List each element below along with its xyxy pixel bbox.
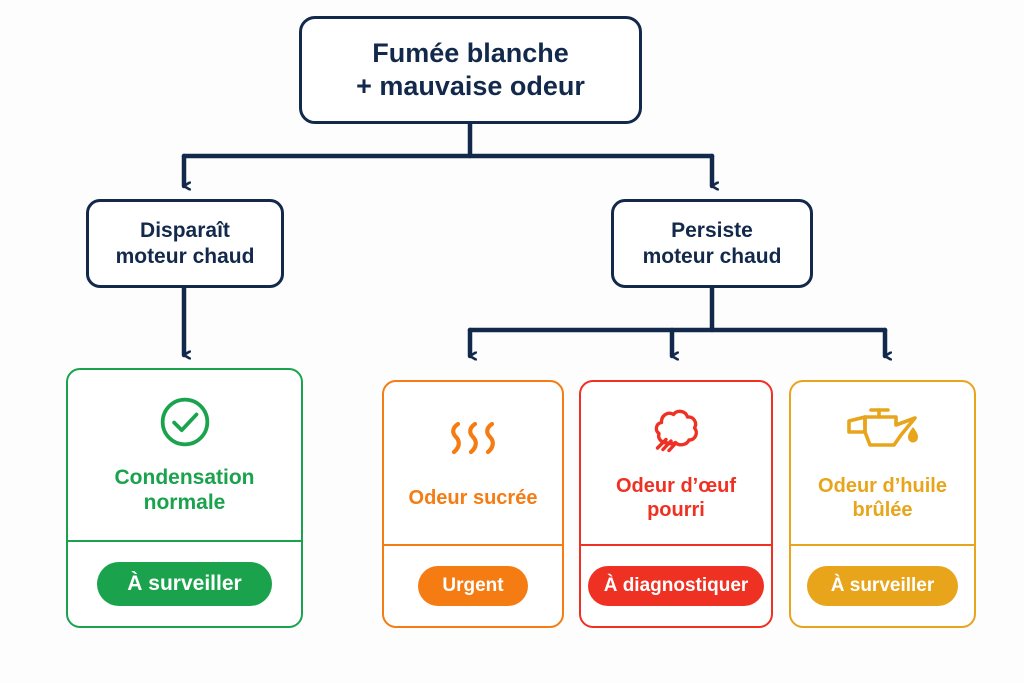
card-body: Odeur sucrée bbox=[384, 382, 562, 544]
card-label: Odeur d’œuf pourri bbox=[616, 474, 736, 522]
card-odeur-sucree[interactable]: Odeur sucrée Urgent bbox=[382, 380, 564, 628]
card-body: Odeur d’huile brûlée bbox=[791, 382, 974, 544]
card-footer: À surveiller bbox=[791, 544, 974, 626]
status-badge[interactable]: À surveiller bbox=[97, 562, 271, 606]
node-branch-persiste[interactable]: Persiste moteur chaud bbox=[611, 199, 813, 288]
node-root-symptom[interactable]: Fumée blanche + mauvaise odeur bbox=[299, 16, 642, 124]
node-root-label: Fumée blanche + mauvaise odeur bbox=[346, 37, 595, 103]
card-footer: À diagnostiquer bbox=[581, 544, 771, 626]
oil-can-icon bbox=[841, 400, 925, 462]
card-condensation-normale[interactable]: Condensation normale À surveiller bbox=[66, 368, 303, 628]
status-badge[interactable]: À diagnostiquer bbox=[588, 566, 765, 606]
status-badge[interactable]: Urgent bbox=[418, 566, 527, 606]
card-label: Odeur d’huile brûlée bbox=[818, 474, 947, 522]
card-footer: À surveiller bbox=[68, 540, 301, 626]
check-circle-icon bbox=[156, 391, 214, 453]
card-body: Condensation normale bbox=[68, 370, 301, 540]
card-odeur-huile-brulee[interactable]: Odeur d’huile brûlée À surveiller bbox=[789, 380, 976, 628]
card-body: Odeur d’œuf pourri bbox=[581, 382, 771, 544]
node-branch-persiste-label: Persiste moteur chaud bbox=[633, 218, 792, 269]
status-badge[interactable]: À surveiller bbox=[807, 566, 959, 606]
steam-waves-icon bbox=[442, 412, 504, 474]
card-label: Condensation normale bbox=[115, 465, 255, 515]
smoke-cloud-icon bbox=[644, 400, 708, 462]
node-branch-disparait[interactable]: Disparaît moteur chaud bbox=[86, 199, 284, 288]
flowchart-diagram: Fumée blanche + mauvaise odeur Disparaît… bbox=[0, 0, 1024, 683]
card-label: Odeur sucrée bbox=[409, 486, 538, 510]
card-odeur-oeuf-pourri[interactable]: Odeur d’œuf pourri À diagnostiquer bbox=[579, 380, 773, 628]
node-branch-disparait-label: Disparaît moteur chaud bbox=[106, 218, 265, 269]
card-footer: Urgent bbox=[384, 544, 562, 626]
